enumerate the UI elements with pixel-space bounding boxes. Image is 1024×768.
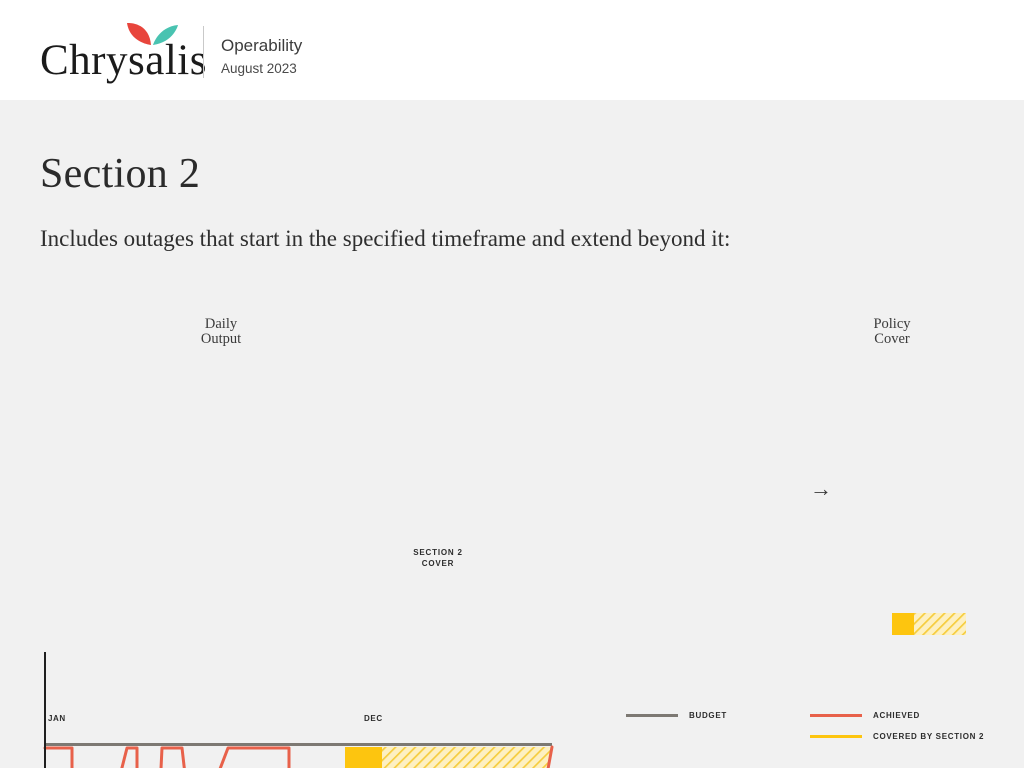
legend-item-achieved: ACHIEVED (810, 711, 920, 720)
chart-caption-daily-output: Daily Output (176, 317, 266, 347)
brand-logo[interactable]: Chrysalis (40, 8, 200, 90)
cover-key-hatch-fill (914, 613, 966, 635)
legend-swatch-budget (626, 714, 678, 717)
caption-line-1: Daily (176, 317, 266, 332)
outage-chart (0, 300, 1024, 768)
x-tick-label-dec: DEC (364, 714, 383, 723)
legend-label-budget: BUDGET (689, 711, 727, 720)
area-label-line-1: SECTION 2 (385, 548, 491, 559)
document-date: August 2023 (221, 58, 302, 80)
chart-caption-policy-cover: Policy Cover (847, 317, 937, 347)
caption-line-2: Cover (847, 332, 937, 347)
legend-label-covered: COVERED BY SECTION 2 (873, 732, 984, 741)
header-divider (203, 26, 204, 78)
legend-swatch-covered (810, 735, 862, 738)
x-tick-label-jan: JAN (48, 714, 66, 723)
page-header: Chrysalis Operability August 2023 (0, 0, 1024, 100)
arrow-right-icon: → (810, 478, 832, 500)
header-meta: Operability August 2023 (221, 33, 302, 80)
brand-name: Chrysalis (40, 36, 207, 85)
document-title: Operability (221, 33, 302, 58)
legend-item-covered: COVERED BY SECTION 2 (810, 732, 984, 741)
chart-container: Daily Output Policy Cover JAN DEC SECTIO… (0, 300, 1024, 768)
cover-key-hatched (914, 613, 966, 635)
cover-key-swatch (892, 613, 966, 635)
caption-line-1: Policy (847, 317, 937, 332)
page-title: Section 2 (40, 150, 200, 198)
legend-label-achieved: ACHIEVED (873, 711, 920, 720)
section-2-cover-label: SECTION 2 COVER (385, 548, 491, 569)
page-subtitle: Includes outages that start in the speci… (40, 226, 730, 252)
legend-item-budget: BUDGET (626, 711, 727, 720)
cover-hatched-band (382, 747, 552, 768)
cover-solid-band (345, 747, 382, 768)
area-label-line-2: COVER (385, 559, 491, 570)
achieved-line (45, 748, 345, 768)
cover-key-solid (892, 613, 914, 635)
legend-swatch-achieved (810, 714, 862, 717)
caption-line-2: Output (176, 332, 266, 347)
